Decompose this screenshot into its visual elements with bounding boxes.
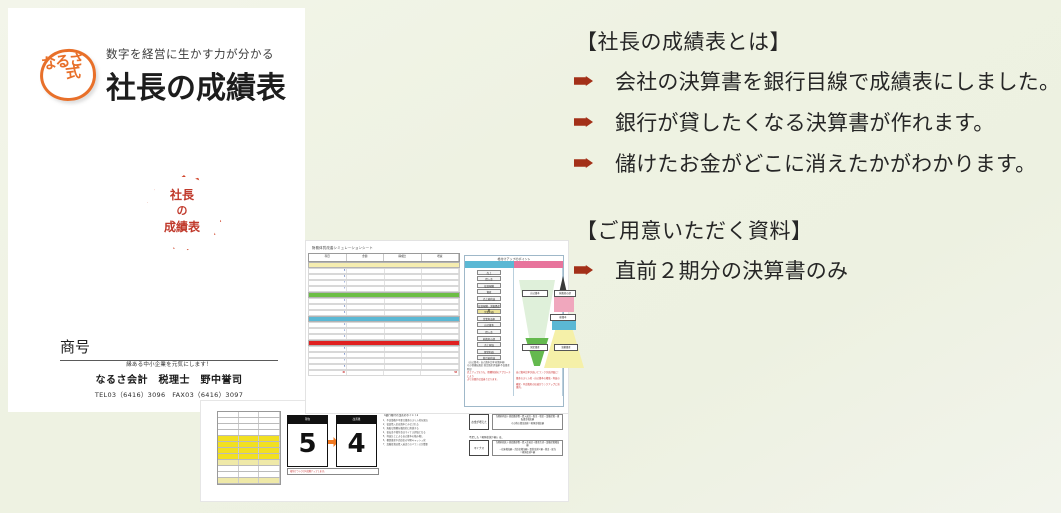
funnel-label: 固定資産 [522,344,548,351]
panel-headers [465,261,563,268]
bullet-item: 儲けたお金がどこに消えたかがわかります。 [570,148,1050,178]
panel-chip: 自己資本 [477,322,501,327]
score-comparison-widget: 現在の格付け位置はこちら。 現在 5 改善後 4 格付けランクが1段階アップしま… [287,409,377,481]
panel-red-note: より効果的な改善となります。 [465,379,513,382]
narusa-stamp-icon: なるさ 式 [38,48,100,106]
seal-line-1: 社長 [170,187,194,203]
score-value-improved: 4 [337,424,376,464]
brand-logo: なるさ 式 数字を経営に生かす力が分かる 社長の成績表 [38,46,288,116]
section-title-documents: 【ご用意いただく資料】 [576,215,1050,245]
arrow-bullet-icon [574,117,593,127]
table-header-cell: 構成比 [384,254,422,261]
slide-canvas: なるさ 式 数字を経営に生かす力が分かる 社長の成績表 社長 の 成績表 商号 [0,0,1061,513]
panel-red-note: 資産のスリム化・自己資本の増強・利益の [514,378,562,381]
panel-column-left: 売上 借入金 役員報酬 資産 売上総利益 役員報酬・減価償却費 営業利益 営業利… [465,268,514,396]
financial-table: 科目 金額 構成比 増減 8 6 7 7 3 6 6 0 1 3 5 5 7 5… [308,253,460,409]
score-detail-table [217,411,281,485]
table-header-cell: 科目 [309,254,347,261]
table-header-row: 科目 金額 構成比 増減 [308,253,460,262]
panel-column-right: 自己資本 純資産の部 総資本 固定資産 流動資産 自己資本比率が高いとランクが高… [514,268,563,396]
funnel-label: 流動資産 [554,344,578,351]
report-page-thumbnail-bottom: 現在の格付け位置はこちら。 現在 5 改善後 4 格付けランクが1段階アップしま… [200,400,569,502]
stamp-characters: なるさ 式 [40,51,99,101]
report-title: 財務体質改善シミュレーションシート [312,245,373,250]
formula-line: ＝現預金減少額 [495,452,560,455]
score-note-strip: 格付けランクが1段階アップします。 [287,468,379,475]
cash-increase-formula: 当期純利益＋減価償却費－借入返済－配当・税金－設備投資－運転資金増加額 その他の… [492,414,563,430]
cash-decrease-title: 不足した「現預金減少額」は、 [469,435,563,439]
score-box-current-header: 現在 [288,416,327,424]
firm-name: なるさ会計 税理士 野中誉司 [60,371,278,386]
bullet-item: 銀行が貸したくなる決算書が作れます。 [570,107,1050,137]
panel-chip: 税引前利益 [477,355,501,360]
panel-chip-highlight: 営業利益 [477,309,501,314]
panel-chip: 経常利益 [477,349,501,354]
cash-decrease-row: マイナス 当期純損失＋減価償却費－借入金返済＋資産売却－設備投資増加額 －在庫増… [469,440,563,456]
formula-line: 当期純利益＋減価償却費－借入返済－配当・税金－設備投資－運転資金増加額 [495,416,560,423]
panel-chip: 役員報酬・減価償却費 [477,303,501,308]
seal-line-2: の [177,203,188,219]
firm-footer: 縁ある中小企業を元気にします！ なるさ会計 税理士 野中誉司 TEL03（641… [60,360,278,399]
bullet-text: 会社の決算書を銀行目線で成績表にしました。 [615,66,1060,96]
section-title-about: 【社長の成績表とは】 [576,26,1050,56]
improvement-points-list: 【銀行格付け改善のポイント】 1．不良債権や不要な資産のスリム化を図る 2．役員… [383,413,463,447]
rating-improvement-panel: 格付けアップのポイント 売上 借入金 役員報酬 資産 売上総利益 役員報酬・減価… [464,255,564,407]
firm-tagline: 縁ある中小企業を元気にします！ [60,360,278,368]
panel-red-note: 売上アップよりも、経費削減のアプローチにより [465,372,513,379]
cash-flow-summary: 増加した「現預金増加額計」は、 お金が増えた 当期純利益＋減価償却費－借入返済－… [469,409,563,461]
bullet-item: 会社の決算書を銀行目線で成績表にしました。 [570,66,1050,96]
firm-contact: TEL03（6416）3096 FAX03（6416）3097 [60,389,278,399]
company-name-field: 商号 [60,336,278,361]
score-box-improved-header: 改善後 [337,416,376,424]
arrow-bullet-icon [574,76,593,86]
panel-chip: 資産 [477,289,501,294]
table-row [218,478,280,484]
logo-text-block: 数字を経営に生かす力が分かる 社長の成績表 [106,46,286,107]
seal-text: 社長 の 成績表 [157,184,207,238]
panel-header-right [514,261,563,268]
description-column: 【社長の成績表とは】 会社の決算書を銀行目線で成績表にしました。 銀行が貸したく… [570,26,1050,296]
formula-line: その他の資金調達＝現預金増加額 [495,423,560,426]
panel-chip: 役員報酬 [477,283,501,288]
panel-red-note: 確保・不良資産の圧縮がランクアップに効果的。 [514,384,562,391]
table-row-total: 40 58 [308,370,460,376]
cash-decrease-formula: 当期純損失＋減価償却費－借入金返済＋資産売却－設備投資増加額 －在庫増加額－売掛… [492,440,563,456]
score-note-text: 格付けランクが1段階アップします。 [288,469,378,473]
panel-chip: 営業利益率 [477,316,501,321]
bullet-text: 直前２期分の決算書のみ [615,255,848,285]
panel-red-note: 自己資本比率が高いとランクが高評価に！ [514,372,562,375]
improvement-point-item: 7．設備投資は借入返済とのバランスが重要 [383,443,463,447]
formula-line: 当期純損失＋減価償却費－借入金返済＋資産売却－設備投資増加額 [495,442,560,449]
score-box-improved: 改善後 4 [336,415,377,467]
score-value-current: 5 [288,424,327,464]
logo-subtitle: 数字を経営に生かす力が分かる [106,46,286,62]
panel-header-left [465,261,514,268]
total-value-left: 40 [309,371,347,375]
funnel-label: 総資本 [550,314,576,321]
funnel-band-pink [554,296,574,312]
logo-title: 社長の成績表 [106,63,286,107]
report-page-thumbnail-top: 財務体質改善シミュレーションシート 科目 金額 構成比 増減 8 6 7 7 3… [305,240,569,414]
shogo-label: 商号 [60,336,278,360]
score-box-current: 現在 5 [287,415,328,467]
total-value-right: 58 [421,371,459,375]
panel-chip: 純資産の部 [477,336,501,341]
panel-chip: 借入金 [477,329,501,334]
cash-increase-row: お金が増えた 当期純利益＋減価償却費－借入返済－配当・税金－設備投資－運転資金増… [469,414,563,430]
panel-body: 売上 借入金 役員報酬 資産 売上総利益 役員報酬・減価償却費 営業利益 営業利… [465,268,563,396]
arrow-bullet-icon [574,265,593,275]
cash-decrease-label: マイナス [469,440,489,456]
cover-page-card: なるさ 式 数字を経営に生かす力が分かる 社長の成績表 社長 の 成績表 商号 [8,8,305,412]
section-spacer [570,189,1050,215]
funnel-label: 自己資本 [522,290,548,297]
arrow-bullet-icon [574,158,593,168]
panel-chip: 借入金 [477,276,501,281]
panel-chip: 売上原価 [477,342,501,347]
seal-line-3: 成績表 [164,219,200,235]
seal-badge-icon: 社長 の 成績表 [139,168,225,254]
table-header-cell: 増減 [422,254,460,261]
cash-increase-label: お金が増えた [469,414,489,430]
bullet-text: 銀行が貸したくなる決算書が作れます。 [615,107,995,137]
bullet-text: 儲けたお金がどこに消えたかがわかります。 [615,148,1036,178]
table-header-cell: 金額 [347,254,385,261]
panel-chip: 売上 [477,270,501,275]
panel-chip: 売上総利益 [477,296,501,301]
bullet-item: 直前２期分の決算書のみ [570,255,1050,285]
